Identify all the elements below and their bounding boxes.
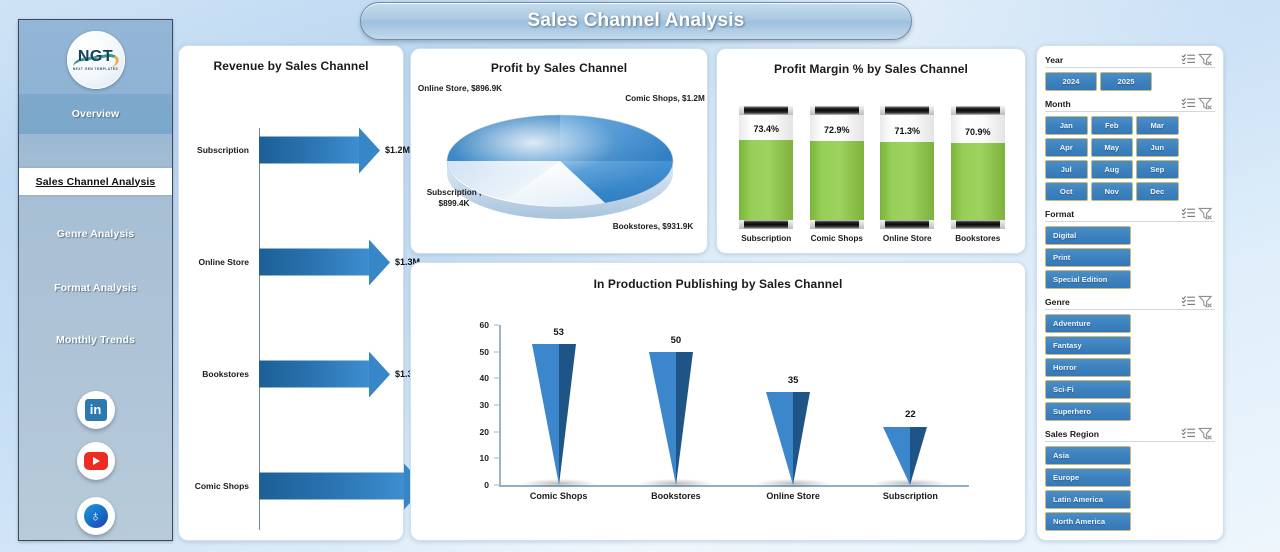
sidebar-item-monthly-trends[interactable]: Monthly Trends	[19, 320, 172, 360]
x-axis-tick-label: Online Store	[735, 491, 852, 501]
x-axis-labels: Comic ShopsBookstoresOnline StoreSubscri…	[500, 491, 969, 501]
page-title: Sales Channel Analysis	[527, 10, 744, 32]
filter-chip-asia[interactable]: Asia	[1045, 446, 1131, 465]
filter-group-year: Year20242025	[1045, 53, 1215, 91]
margin-gauge-cap-bottom	[880, 220, 934, 229]
revenue-arrow-bar	[259, 361, 369, 388]
website-icon[interactable]: ♁	[77, 497, 115, 535]
revenue-category-label: Bookstores	[179, 369, 255, 379]
pyramid-value-label: 50	[671, 335, 682, 346]
filter-chip-list: JanFebMarAprMayJunJulAugSepOctNovDec	[1045, 116, 1215, 201]
filter-chip-horror[interactable]: Horror	[1045, 358, 1131, 377]
filter-chip-jul[interactable]: Jul	[1045, 160, 1088, 179]
filter-chip-sep[interactable]: Sep	[1136, 160, 1179, 179]
margin-gauge-cylinder: 73.4%	[739, 106, 793, 229]
margin-gauge-value: 70.9%	[951, 127, 1005, 137]
filter-chip-2025[interactable]: 2025	[1100, 72, 1152, 91]
profit-margin-card: Profit Margin % by Sales Channel 73.4%Su…	[716, 48, 1026, 254]
x-axis-tick-label: Bookstores	[617, 491, 734, 501]
pyramid-face-dark	[793, 392, 810, 485]
margin-gauge-label: Subscription	[741, 234, 791, 243]
pie-label-subscription: Subscription , $899.4K	[411, 187, 497, 209]
pyramid-value-label: 22	[905, 409, 916, 420]
filter-chip-jun[interactable]: Jun	[1136, 138, 1179, 157]
pie-label-online-store: Online Store, $896.9K	[417, 83, 503, 94]
filter-chip-may[interactable]: May	[1091, 138, 1134, 157]
filter-chip-list: AsiaEuropeLatin AmericaNorth America	[1045, 446, 1215, 531]
pyramid-bar: 53	[500, 325, 617, 485]
margin-gauge-column: 71.3%Online Store	[878, 106, 936, 243]
filter-group-header: Month	[1045, 97, 1215, 112]
filter-group-header: Year	[1045, 53, 1215, 68]
dashboard-title-banner: Sales Channel Analysis	[360, 2, 912, 40]
filter-chip-list: AdventureFantasyHorrorSci-FiSuperhero	[1045, 314, 1215, 421]
filter-chip-sci-fi[interactable]: Sci-Fi	[1045, 380, 1131, 399]
clear-filter-icon[interactable]	[1198, 97, 1215, 110]
pyramid-face-light	[532, 344, 559, 485]
filter-chip-list: DigitalPrintSpecial Edition	[1045, 226, 1215, 289]
profit-by-sales-channel-card: Profit by Sales Channel	[410, 48, 708, 254]
revenue-row: Comic Shops$1.7M	[179, 456, 403, 516]
pie-label-bookstores: Bookstores, $931.9K	[607, 221, 699, 232]
revenue-category-label: Online Store	[179, 257, 255, 267]
margin-gauge-fill	[951, 143, 1005, 229]
multi-select-icon[interactable]	[1181, 207, 1198, 220]
filter-group-title: Sales Region	[1045, 429, 1181, 439]
pyramid-face-light	[766, 392, 793, 485]
logo-mark: NGT	[78, 49, 113, 65]
profit-margin-gauges: 73.4%Subscription72.9%Comic Shops71.3%On…	[731, 95, 1013, 243]
revenue-row: Subscription$1.2M	[179, 120, 403, 180]
filter-chip-dec[interactable]: Dec	[1136, 182, 1179, 201]
margin-gauge-column: 72.9%Comic Shops	[808, 106, 866, 243]
revenue-arrow-wrap: $1.7M	[255, 456, 403, 516]
margin-gauge-cap-bottom	[951, 220, 1005, 229]
margin-gauge-value: 72.9%	[810, 125, 864, 135]
filter-chip-fantasy[interactable]: Fantasy	[1045, 336, 1131, 355]
revenue-value-label: $1.2M	[385, 145, 410, 155]
filter-chip-north-america[interactable]: North America	[1045, 512, 1131, 531]
filter-group-header: Genre	[1045, 295, 1215, 310]
margin-gauge-label: Online Store	[883, 234, 932, 243]
sidebar-item-label: Monthly Trends	[56, 334, 135, 346]
sidebar-item-label: Sales Channel Analysis	[36, 176, 156, 188]
clear-filter-icon[interactable]	[1198, 427, 1215, 440]
brand-logo: NGT NEXT GEN TEMPLATES	[67, 31, 125, 89]
multi-select-icon[interactable]	[1181, 53, 1198, 66]
pyramid-face-dark	[559, 344, 576, 485]
margin-gauge-cap-top	[739, 106, 793, 115]
revenue-category-label: Subscription	[179, 145, 255, 155]
margin-gauge-cylinder: 71.3%	[880, 106, 934, 229]
chart-title-revenue: Revenue by Sales Channel	[179, 59, 403, 73]
revenue-arrow-bar	[259, 137, 359, 164]
margin-gauge-cap-bottom	[810, 220, 864, 229]
filter-chip-nov[interactable]: Nov	[1091, 182, 1134, 201]
filter-group-title: Year	[1045, 55, 1181, 65]
filter-group-month: MonthJanFebMarAprMayJunJulAugSepOctNovDe…	[1045, 97, 1215, 201]
pyramid-face-light	[649, 352, 676, 485]
y-axis-tick-label: 30	[480, 400, 489, 410]
margin-gauge-fill	[880, 142, 934, 229]
margin-gauge-fill	[739, 140, 793, 229]
sidebar-item-genre-analysis[interactable]: Genre Analysis	[19, 214, 172, 254]
filter-group-title: Format	[1045, 209, 1181, 219]
y-axis: 0102030405060	[447, 325, 499, 485]
linkedin-icon[interactable]: in	[77, 391, 115, 429]
multi-select-icon[interactable]	[1181, 295, 1198, 308]
sidebar-item-label: Format Analysis	[54, 282, 137, 294]
clear-filter-icon[interactable]	[1198, 207, 1215, 220]
revenue-arrow-wrap: $1.3M	[255, 232, 403, 292]
margin-gauge-value: 73.4%	[739, 124, 793, 134]
x-axis-tick-label: Comic Shops	[500, 491, 617, 501]
filter-chip-feb[interactable]: Feb	[1091, 116, 1134, 135]
filter-panel: Year20242025MonthJanFebMarAprMayJunJulAu…	[1036, 45, 1224, 541]
revenue-arrow-wrap: $1.2M	[255, 120, 403, 180]
y-axis-tick-label: 20	[480, 427, 489, 437]
multi-select-icon[interactable]	[1181, 427, 1198, 440]
pyramid-bar: 50	[617, 325, 734, 485]
filter-group-format: FormatDigitalPrintSpecial Edition	[1045, 207, 1215, 289]
revenue-arrow-wrap: $1.3M	[255, 344, 403, 404]
filter-group-header: Sales Region	[1045, 427, 1215, 442]
margin-gauge-value: 71.3%	[880, 126, 934, 136]
revenue-arrow-bar	[259, 473, 404, 500]
production-pyramid-chart: 0102030405060 53503522 Comic ShopsBookst…	[411, 315, 1025, 530]
multi-select-icon[interactable]	[1181, 97, 1198, 110]
clear-filter-icon[interactable]	[1198, 53, 1215, 66]
margin-gauge-column: 70.9%Bookstores	[949, 106, 1007, 243]
pie-label-comic-shops: Comic Shops, $1.2M	[625, 93, 705, 104]
profit-pie-chart: Online Store, $896.9K Comic Shops, $1.2M…	[411, 49, 707, 253]
revenue-category-label: Comic Shops	[179, 481, 255, 491]
filter-group-sales-region: Sales RegionAsiaEuropeLatin AmericaNorth…	[1045, 427, 1215, 531]
filter-chip-mar[interactable]: Mar	[1136, 116, 1179, 135]
filter-group-title: Month	[1045, 99, 1181, 109]
margin-gauge-fill	[810, 141, 864, 229]
pyramid-value-label: 35	[788, 375, 799, 386]
sidebar-item-label: Overview	[72, 108, 120, 120]
margin-gauge-label: Bookstores	[955, 234, 1000, 243]
x-axis-tick-label: Subscription	[852, 491, 969, 501]
filter-chip-digital[interactable]: Digital	[1045, 226, 1131, 245]
revenue-row: Online Store$1.3M	[179, 232, 403, 292]
pyramid-face-dark	[676, 352, 693, 485]
pyramid-face-dark	[910, 427, 927, 485]
filter-chip-oct[interactable]: Oct	[1045, 182, 1088, 201]
clear-filter-icon[interactable]	[1198, 295, 1215, 308]
sidebar: NGT NEXT GEN TEMPLATES OverviewSales Cha…	[18, 19, 173, 541]
y-axis-tick-label: 10	[480, 453, 489, 463]
filter-chip-2024[interactable]: 2024	[1045, 72, 1097, 91]
margin-gauge-cap-top	[951, 106, 1005, 115]
revenue-arrow-bar	[259, 249, 369, 276]
filter-group-header: Format	[1045, 207, 1215, 222]
pyramid-value-label: 53	[553, 327, 564, 338]
margin-gauge-cylinder: 70.9%	[951, 106, 1005, 229]
y-axis-tick-label: 0	[484, 480, 489, 490]
revenue-row: Bookstores$1.3M	[179, 344, 403, 404]
margin-gauge-cap-bottom	[739, 220, 793, 229]
margin-gauge-column: 73.4%Subscription	[737, 106, 795, 243]
filter-chip-list: 20242025	[1045, 72, 1215, 91]
margin-gauge-cap-top	[810, 106, 864, 115]
margin-gauge-cap-top	[880, 106, 934, 115]
in-production-publishing-card: In Production Publishing by Sales Channe…	[410, 262, 1026, 541]
pyramid-bar: 22	[852, 325, 969, 485]
chart-title-production: In Production Publishing by Sales Channe…	[411, 277, 1025, 291]
y-axis-tick-label: 50	[480, 347, 489, 357]
filter-group-title: Genre	[1045, 297, 1181, 307]
y-axis-tick-label: 60	[480, 320, 489, 330]
filter-chip-adventure[interactable]: Adventure	[1045, 314, 1131, 333]
revenue-by-sales-channel-card: Revenue by Sales Channel Subscription$1.…	[178, 45, 404, 541]
filter-chip-aug[interactable]: Aug	[1091, 160, 1134, 179]
margin-gauge-label: Comic Shops	[811, 234, 863, 243]
sidebar-item-format-analysis[interactable]: Format Analysis	[19, 268, 172, 308]
filter-chip-special-edition[interactable]: Special Edition	[1045, 270, 1131, 289]
chart-title-margin: Profit Margin % by Sales Channel	[717, 62, 1025, 76]
youtube-icon[interactable]	[77, 442, 115, 480]
filter-chip-print[interactable]: Print	[1045, 248, 1131, 267]
pyramid-face-light	[883, 427, 910, 485]
filter-chip-latin-america[interactable]: Latin America	[1045, 490, 1131, 509]
sidebar-item-label: Genre Analysis	[57, 228, 134, 240]
filter-chip-apr[interactable]: Apr	[1045, 138, 1088, 157]
logo-tagline: NEXT GEN TEMPLATES	[73, 67, 118, 71]
filter-chip-europe[interactable]: Europe	[1045, 468, 1131, 487]
y-axis-tick-label: 40	[480, 373, 489, 383]
filter-chip-jan[interactable]: Jan	[1045, 116, 1088, 135]
pyramid-bar: 35	[735, 325, 852, 485]
sidebar-item-overview[interactable]: Overview	[19, 94, 172, 134]
sidebar-item-sales-channel-analysis[interactable]: Sales Channel Analysis	[19, 168, 172, 195]
filter-chip-superhero[interactable]: Superhero	[1045, 402, 1131, 421]
margin-gauge-cylinder: 72.9%	[810, 106, 864, 229]
filter-group-genre: GenreAdventureFantasyHorrorSci-FiSuperhe…	[1045, 295, 1215, 421]
